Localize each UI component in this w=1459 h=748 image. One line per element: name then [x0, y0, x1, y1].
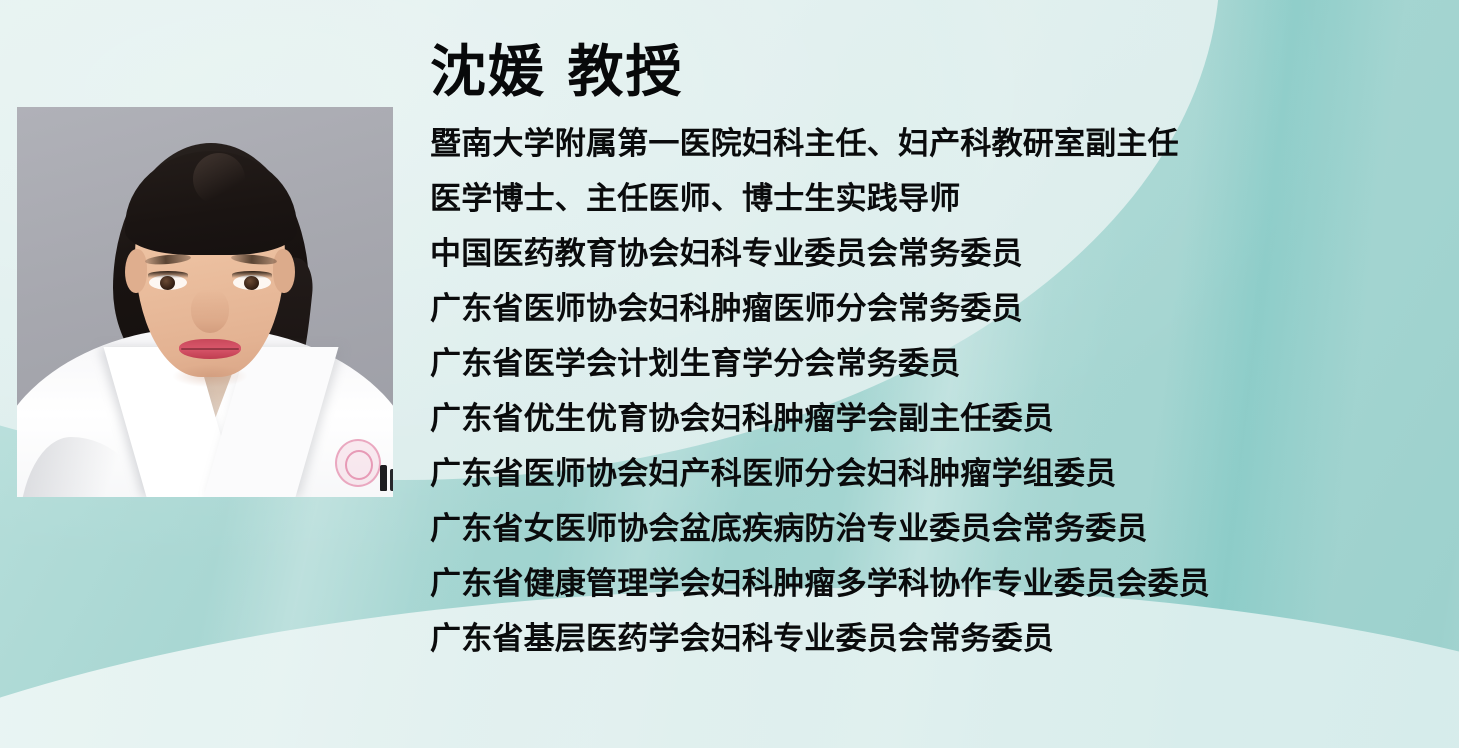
coat-badge-inner [345, 450, 373, 480]
speaker-info-column: 沈媛 教授 暨南大学附属第一医院妇科主任、妇产科教研室副主任 医学博士、主任医师… [430, 44, 1450, 667]
credential-item: 广东省健康管理学会妇科肿瘤多学科协作专业委员会委员 [430, 557, 1450, 612]
coat-badge-icon [335, 439, 381, 487]
hair-part-highlight [193, 153, 245, 205]
eyelid-right [232, 271, 272, 278]
credential-item: 医学博士、主任医师、博士生实践导师 [430, 172, 1450, 227]
ear-right [273, 249, 295, 293]
ear-left [125, 249, 147, 293]
pocket-pen-second-icon [390, 469, 393, 491]
credential-item: 广东省基层医药学会妇科专业委员会常务委员 [430, 612, 1450, 667]
coat-shadow [19, 437, 149, 497]
eyelid-left [148, 271, 188, 278]
credential-item: 广东省女医师协会盆底疾病防治专业委员会常务委员 [430, 502, 1450, 557]
credential-item: 暨南大学附属第一医院妇科主任、妇产科教研室副主任 [430, 117, 1450, 172]
chin-shadow [173, 365, 247, 387]
iris-right [244, 276, 259, 290]
speaker-name-title: 沈媛 教授 [430, 44, 1450, 103]
credentials-list: 暨南大学附属第一医院妇科主任、妇产科教研室副主任 医学博士、主任医师、博士生实践… [430, 117, 1450, 667]
speaker-portrait-photo [17, 107, 393, 497]
credential-item: 广东省医学会计划生育学分会常务委员 [430, 337, 1450, 392]
nose [191, 289, 229, 333]
credential-item: 广东省优生优育协会妇科肿瘤学会副主任委员 [430, 392, 1450, 447]
lip-line [181, 348, 239, 350]
credential-item: 中国医药教育协会妇科专业委员会常务委员 [430, 227, 1450, 282]
credential-item: 广东省医师协会妇产科医师分会妇科肿瘤学组委员 [430, 447, 1450, 502]
speaker-introduction-slide: 沈媛 教授 暨南大学附属第一医院妇科主任、妇产科教研室副主任 医学博士、主任医师… [0, 0, 1459, 748]
pocket-pen-icon [380, 465, 387, 491]
iris-left [160, 276, 175, 290]
credential-item: 广东省医师协会妇科肿瘤医师分会常务委员 [430, 282, 1450, 337]
